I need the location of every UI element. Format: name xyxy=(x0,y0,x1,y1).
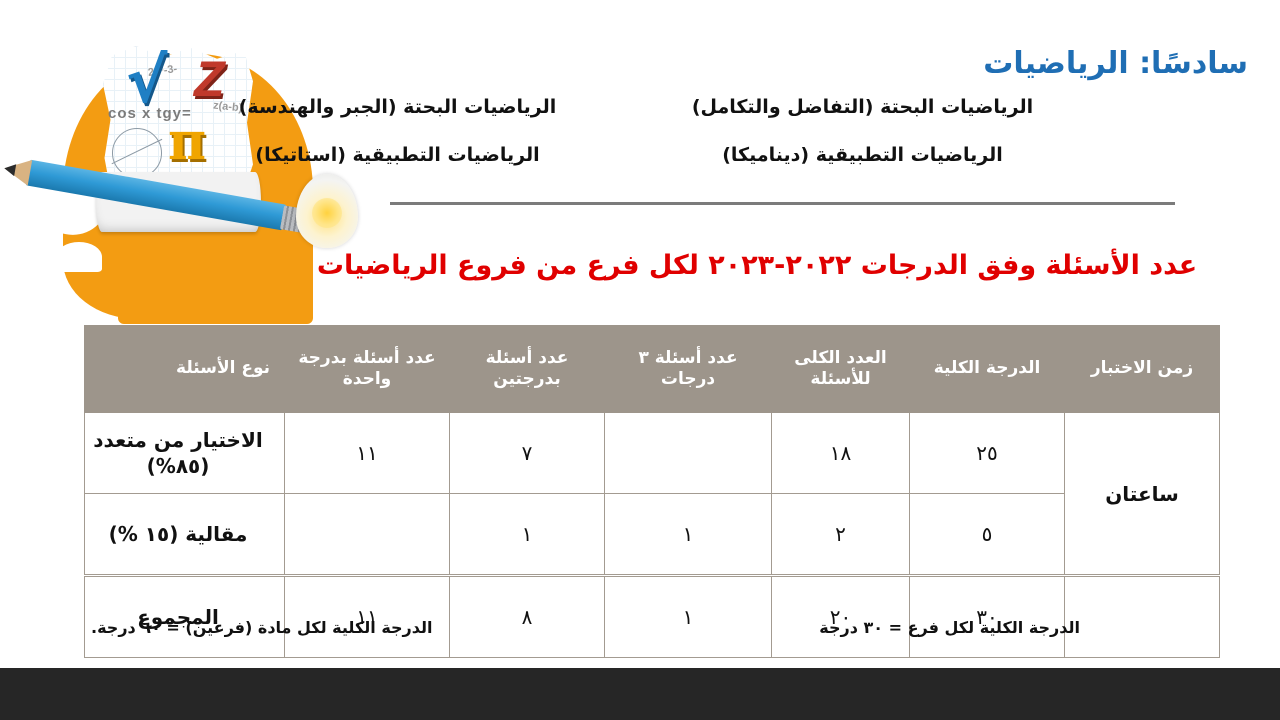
cell-total-questions: ٢ xyxy=(772,494,910,576)
cell-exam-time-empty xyxy=(1065,576,1220,658)
column-header-two-point-questions: عدد أسئلة بدرجتين xyxy=(450,326,605,413)
cell-total-score: ٣٠ xyxy=(910,576,1065,658)
column-header-total-questions: العدد الكلى للأسئلة xyxy=(772,326,910,413)
cell-one-point-questions: ١١ xyxy=(285,576,450,658)
cell-total-questions: ٢٠ xyxy=(772,576,910,658)
cell-three-point-questions: ١ xyxy=(605,494,772,576)
note-total-per-branch: الدرجة الكلية لكل فرع = ٣٠ درجة xyxy=(819,618,1220,637)
table-row-total: ٣٠ ٢٠ ١ ٨ ١١ المجموع xyxy=(85,576,1220,658)
table-heading: عدد الأسئلة وفق الدرجات ٢٠٢٢-٢٠٢٣ لكل فر… xyxy=(282,248,1232,283)
note-total-per-subject: الدرجة الكلية لكل مادة (فرعين) = ٦٠ درجة… xyxy=(85,618,433,637)
chin-notch xyxy=(56,242,102,272)
column-header-exam-time: زمن الاختبار xyxy=(1065,326,1220,413)
table-row: ساعتان ٢٥ ١٨ ٧ ١١ الاختيار من متعدد (٨٥%… xyxy=(85,413,1220,494)
cell-one-point-questions xyxy=(285,494,450,576)
cell-three-point-questions xyxy=(605,413,772,494)
grades-table: زمن الاختبار الدرجة الكلية العدد الكلى ل… xyxy=(84,325,1220,658)
cell-total-questions: ١٨ xyxy=(772,413,910,494)
subject-branch-item: الرياضيات التطبيقية (ديناميكا) xyxy=(635,144,1090,166)
cell-two-point-questions: ٧ xyxy=(450,413,605,494)
cell-exam-time: ساعتان xyxy=(1065,413,1220,576)
cell-three-point-questions: ١ xyxy=(605,576,772,658)
pencil-lead xyxy=(3,162,16,176)
column-header-one-point-questions: عدد أسئلة بدرجة واحدة xyxy=(285,326,450,413)
bottom-bar xyxy=(0,668,1280,720)
cell-question-type: الاختيار من متعدد (٨٥%) xyxy=(85,413,285,494)
cell-total-score: ٢٥ xyxy=(910,413,1065,494)
cell-total-score: ٥ xyxy=(910,494,1065,576)
cell-question-type: مقالية (١٥ %) xyxy=(85,494,285,576)
table-row: ٥ ٢ ١ ١ مقالية (١٥ %) xyxy=(85,494,1220,576)
column-header-question-type: نوع الأسئلة xyxy=(85,326,285,413)
subject-branch-item: الرياضيات التطبيقية (استاتيكا) xyxy=(170,144,625,166)
column-header-three-point-questions: عدد أسئلة ٣ درجات xyxy=(605,326,772,413)
lightbulb-icon xyxy=(296,174,358,248)
subject-branch-list: الرياضيات البحتة (التفاضل والتكامل) الري… xyxy=(170,96,1090,166)
subject-branch-item: الرياضيات البحتة (الجبر والهندسة) xyxy=(170,96,625,118)
square-root-icon: √ xyxy=(126,50,167,112)
cell-one-point-questions: ١١ xyxy=(285,413,450,494)
column-header-total-score: الدرجة الكلية xyxy=(910,326,1065,413)
slide-root: =cos x tgy -2x²-3 z(a-b) √ Z π سادسًا: ا… xyxy=(0,0,1280,720)
cell-two-point-questions: ١ xyxy=(450,494,605,576)
page-title: سادسًا: الرياضيات xyxy=(983,46,1248,81)
geometry-circle-figure-icon xyxy=(112,128,162,178)
grades-table-wrapper: زمن الاختبار الدرجة الكلية العدد الكلى ل… xyxy=(85,325,1220,658)
cell-two-point-questions: ٨ xyxy=(450,576,605,658)
lightbulb-glow xyxy=(312,198,342,228)
section-divider xyxy=(390,202,1175,205)
cell-question-type: المجموع xyxy=(85,576,285,658)
subject-branch-item: الرياضيات البحتة (التفاضل والتكامل) xyxy=(635,96,1090,118)
table-header-row: زمن الاختبار الدرجة الكلية العدد الكلى ل… xyxy=(85,326,1220,413)
footer-notes: الدرجة الكلية لكل فرع = ٣٠ درجة الدرجة ا… xyxy=(85,618,1220,637)
